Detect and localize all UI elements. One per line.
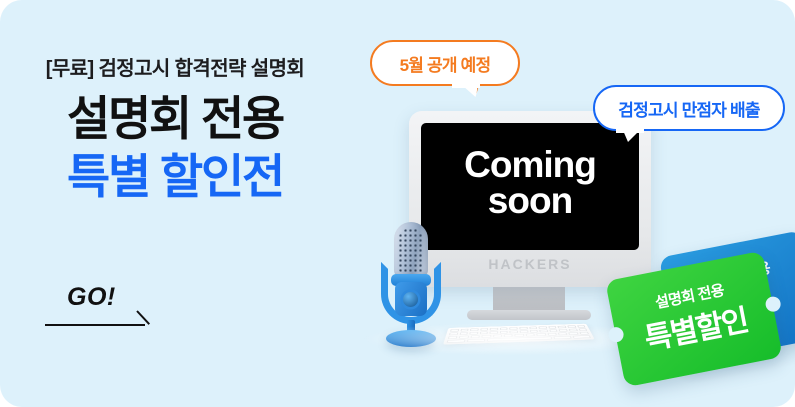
speech-bubble-achievement-text: 검정고시 만점자 배출: [618, 96, 759, 121]
headline-line-1: 설명회 전용: [0, 94, 350, 145]
speech-bubble-orange-tail-join: [452, 80, 480, 88]
microphone-mesh: [398, 228, 424, 272]
arrow-right-icon: [136, 310, 150, 325]
speech-bubble-blue-tail-join: [616, 125, 644, 133]
eyebrow-text: [무료] 검정고시 합격전략 설명회: [0, 52, 350, 81]
speech-bubble-release-date: 5월 공개 예정: [370, 40, 520, 86]
coming-soon-line-2: soon: [421, 183, 639, 219]
go-cta[interactable]: GO!: [45, 283, 175, 343]
monitor-foot: [467, 310, 591, 320]
microphone-knob: [403, 292, 418, 307]
coming-soon-text: Coming soon: [421, 147, 639, 218]
go-cta-label: GO!: [67, 283, 116, 312]
left-copy-block: [무료] 검정고시 합격전략 설명회 설명회 전용 특별 할인전 GO!: [0, 0, 350, 407]
monitor-brand-label: HACKERS: [409, 256, 651, 272]
go-underline: [45, 324, 145, 326]
promo-banner[interactable]: [무료] 검정고시 합격전략 설명회 설명회 전용 특별 할인전 GO! Com…: [0, 0, 795, 407]
monitor-illustration: Coming soon HACKERS: [409, 111, 651, 287]
speech-bubble-release-date-text: 5월 공개 예정: [400, 51, 491, 76]
headline-line-2: 특별 할인전: [0, 152, 350, 203]
coming-soon-line-1: Coming: [464, 144, 596, 185]
microphone-head: [394, 222, 428, 278]
monitor-screen: Coming soon: [421, 123, 639, 250]
